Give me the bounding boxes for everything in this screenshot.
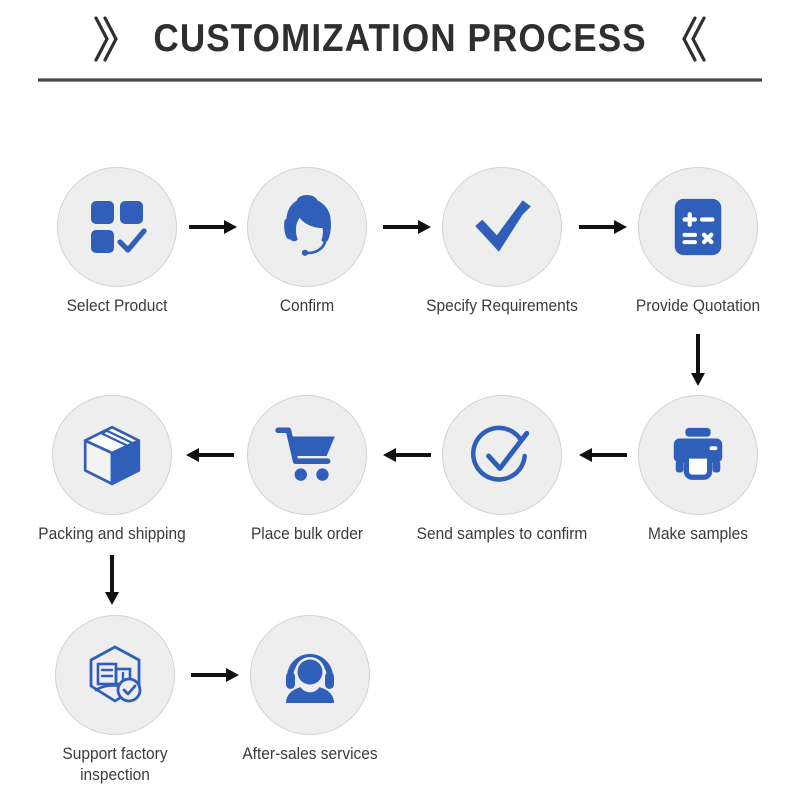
step-icon-circle: [442, 395, 562, 515]
step-place-bulk-order[interactable]: Place bulk order: [212, 395, 402, 545]
step-icon-circle: [57, 167, 177, 287]
step-label: Packing and shipping: [23, 524, 202, 545]
package-box-icon: [79, 422, 145, 488]
step-label: Support factory inspection: [26, 744, 205, 786]
headphones-person-icon: [278, 643, 342, 707]
step-label: Specify Requirements: [413, 296, 592, 317]
factory-inspection-shield-icon: [83, 643, 147, 707]
step-label: Make samples: [609, 524, 788, 545]
step-icon-circle: [52, 395, 172, 515]
step-icon-circle: [638, 395, 758, 515]
step-label: Send samples to confirm: [413, 524, 592, 545]
step-provide-quotation[interactable]: Provide Quotation: [603, 167, 793, 317]
arrow-specify-to-quotation: [578, 217, 628, 237]
step-icon-circle: [442, 167, 562, 287]
arrow-quotation-to-make-samples: [687, 333, 709, 387]
step-make-samples[interactable]: Make samples: [603, 395, 793, 545]
step-packing-and-shipping[interactable]: Packing and shipping: [17, 395, 207, 545]
step-label: Place bulk order: [218, 524, 397, 545]
step-specify-requirements[interactable]: Specify Requirements: [407, 167, 597, 317]
step-label: Select Product: [28, 296, 207, 317]
headset-agent-woman-icon: [274, 194, 340, 260]
arrow-confirm-to-specify: [382, 217, 432, 237]
double-chevron-left-icon: [682, 15, 708, 63]
page-header: CUSTOMIZATION PROCESS: [0, 0, 800, 92]
arrow-inspection-to-after-sales: [190, 665, 240, 685]
circle-check-icon: [469, 422, 535, 488]
step-select-product[interactable]: Select Product: [22, 167, 212, 317]
checkmark-icon: [469, 194, 535, 260]
grid-squares-check-icon: [85, 195, 149, 259]
step-support-factory-inspection[interactable]: Support factory inspection: [20, 615, 210, 786]
step-icon-circle: [247, 395, 367, 515]
step-confirm[interactable]: Confirm: [212, 167, 402, 317]
title-divider: [38, 78, 762, 82]
printer-icon: [667, 424, 729, 486]
step-icon-circle: [55, 615, 175, 735]
calculator-icon: [667, 196, 729, 258]
step-icon-circle: [247, 167, 367, 287]
step-send-samples-to-confirm[interactable]: Send samples to confirm: [407, 395, 597, 545]
step-after-sales-services[interactable]: After-sales services: [215, 615, 405, 765]
arrow-make-samples-to-send-samples: [578, 445, 628, 465]
title-row: CUSTOMIZATION PROCESS: [0, 8, 800, 70]
arrow-send-samples-to-bulk-order: [382, 445, 432, 465]
step-label: After-sales services: [221, 744, 400, 765]
step-icon-circle: [250, 615, 370, 735]
step-icon-circle: [638, 167, 758, 287]
page-title: CUSTOMIZATION PROCESS: [153, 17, 646, 61]
double-chevron-right-icon: [92, 15, 118, 63]
arrow-packing-to-inspection: [101, 554, 123, 606]
step-label: Provide Quotation: [609, 296, 788, 317]
step-label: Confirm: [218, 296, 397, 317]
arrow-bulk-order-to-packing: [185, 445, 235, 465]
shopping-cart-icon: [274, 422, 340, 488]
arrow-select-to-confirm: [188, 217, 238, 237]
